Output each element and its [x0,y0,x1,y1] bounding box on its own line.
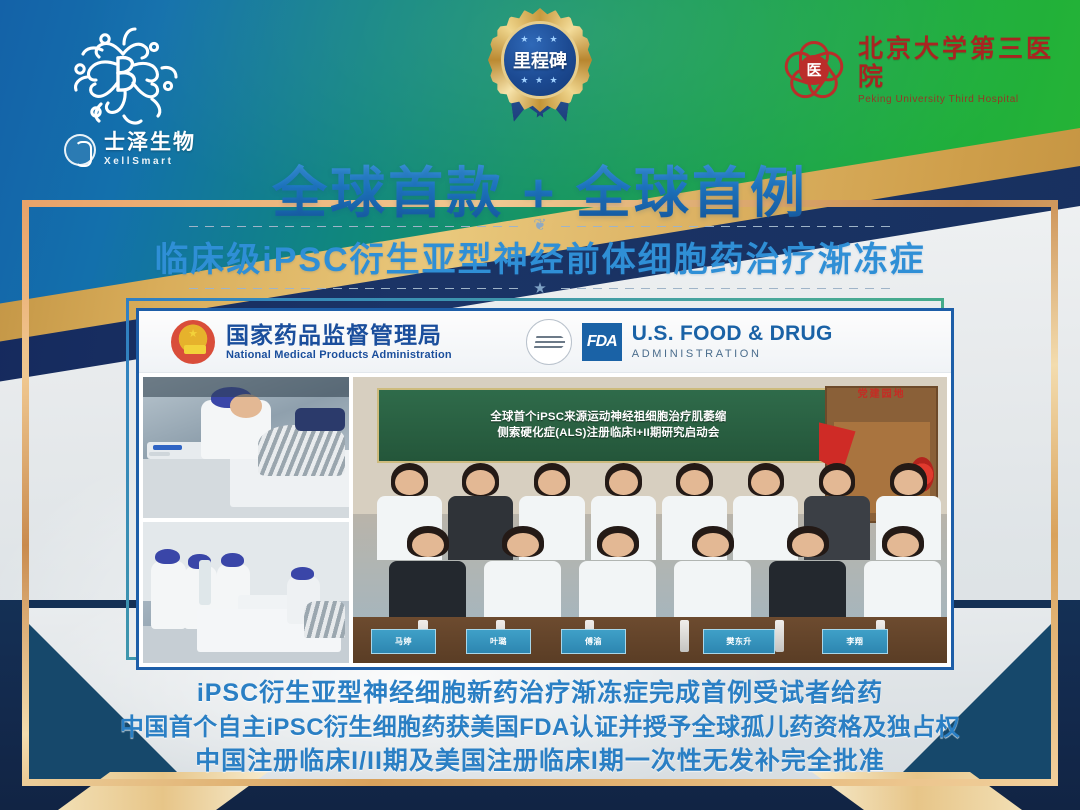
nameplate: 李翔 [822,629,887,655]
content-frame-main: 国家药品监督管理局 National Medical Products Admi… [136,308,954,670]
fda-name-main: U.S. FOOD & DRUG [632,323,833,345]
fda-abbr-box: FDA [582,323,622,361]
meeting-banner-text: 全球首个iPSC来源运动神经祖细胞治疗肌萎缩 侧索硬化症(ALS)注册临床I+I… [490,410,726,441]
divider-line-left [189,226,519,227]
badge-inner-disc: ★ ★ ★ 里程碑 ★ ★ ★ [501,21,579,99]
hhs-seal-icon [526,319,572,365]
fda-name-sub: ADMINISTRATION [632,348,833,360]
plum-blossom-emblem-icon: 医 [782,39,846,103]
milestone-award-badge-icon: ★ ★ ★ 里程碑 ★ ★ ★ [484,6,596,118]
content-frame: 国家药品监督管理局 National Medical Products Admi… [126,298,954,670]
nameplate: 叶璐 [466,629,531,655]
hospital-name-en: Peking University Third Hospital [858,94,1080,105]
neuron-network-icon [58,20,188,130]
page-title: 全球首款 + 全球首例 [0,148,1080,228]
footer-line-1: iPSC衍生亚型神经细胞新药治疗渐冻症完成首例受试者给药 [0,676,1080,711]
nmpa-name-cn: 国家药品监督管理局 [226,322,452,348]
launch-meeting-photo: 全球首个iPSC来源运动神经祖细胞治疗肌萎缩 侧索硬化症(ALS)注册临床I+I… [353,377,947,663]
nmpa-name-en: National Medical Products Administration [226,349,452,361]
badge-stars-top: ★ ★ ★ [520,35,559,44]
nameplate: 傅渝 [561,629,626,655]
china-national-emblem-icon [171,320,215,364]
badge-stars-bottom: ★ ★ ★ [520,76,559,85]
photo-grid: 全球首个iPSC来源运动神经祖细胞治疗肌萎缩 侧索硬化症(ALS)注册临床I+I… [139,373,951,667]
footer-achievements: iPSC衍生亚型神经细胞新药治疗渐冻症完成首例受试者给药 中国首个自主iPSC衍… [0,676,1080,778]
nameplate: 樊东升 [703,629,774,655]
clinic-photo-column [143,377,349,663]
meeting-banner: 全球首个iPSC来源运动神经祖细胞治疗肌萎缩 侧索硬化症(ALS)注册临床I+I… [377,388,840,462]
hospital-name-cn: 北京大学第三医院 [858,36,1080,91]
front-row-people [353,526,947,623]
footer-line-3: 中国注册临床I/II期及美国注册临床I期一次性无发补完全批准 [0,744,1080,779]
nameplate: 马婷 [371,629,436,655]
regulatory-agency-strip: 国家药品监督管理局 National Medical Products Admi… [139,311,951,373]
headline-divider-bottom: ★ [0,281,1080,296]
star-icon: ★ [533,281,546,296]
footer-line-2: 中国首个自主iPSC衍生细胞药获美国FDA认证并授予全球孤儿药资格及独占权 [0,711,1080,744]
hospital-logo: 医 北京大学第三医院 Peking University Third Hospi… [782,36,1080,105]
hospital-emblem-glyph: 医 [799,55,829,85]
divider-line-right [561,226,891,227]
party-board-title: 党建园地 [827,385,936,400]
divider-line-right-2 [561,288,891,289]
milestone-poster: 士泽生物 XellSmart ★ ★ ★ 里程碑 ★ ★ ★ 医 北京大学第三医… [0,0,1080,810]
page-subtitle: 临床级iPSC衍生亚型神经前体细胞药治疗渐冻症 [0,232,1080,281]
nmpa-logo: 国家药品监督管理局 National Medical Products Admi… [171,320,452,364]
clinical-team-ward-photo [143,522,349,663]
clinical-dosing-photo [143,377,349,518]
banner-line-2: 侧索硬化症(ALS)注册临床I+II期研究启动会 [490,426,726,441]
badge-label: 里程碑 [513,47,567,73]
divider-line-left-2 [189,288,519,289]
banner-line-1: 全球首个iPSC来源运动神经祖细胞治疗肌萎缩 [490,410,726,425]
fda-logo: FDA U.S. FOOD & DRUG ADMINISTRATION [526,319,833,365]
